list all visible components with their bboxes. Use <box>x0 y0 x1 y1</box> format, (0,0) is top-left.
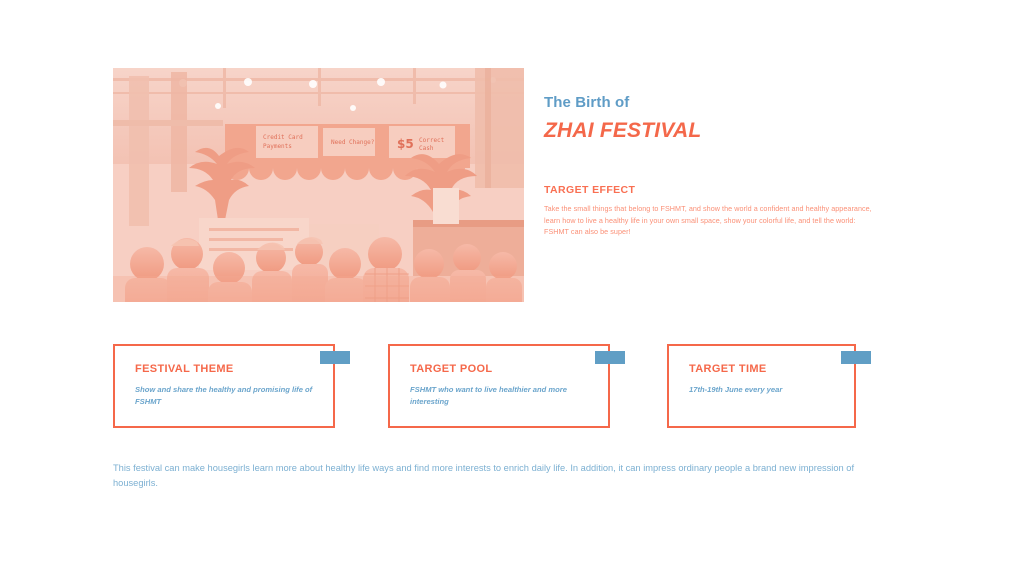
card-body: 17th-19th June every year <box>689 384 840 396</box>
footer-summary-text: This festival can make housegirls learn … <box>113 461 888 491</box>
svg-text:$5: $5 <box>397 137 414 151</box>
accent-tab-icon <box>595 351 625 364</box>
target-effect-body: Take the small things that belong to FSH… <box>544 203 876 238</box>
target-effect-section: TARGET EFFECT Take the small things that… <box>544 184 876 238</box>
hero-festival-photo: Credit Card Payments Need Change? Correc… <box>113 68 524 302</box>
svg-text:Payments: Payments <box>263 143 292 150</box>
card-title: TARGET POOL <box>410 363 594 375</box>
hero-photo-illustration: Credit Card Payments Need Change? Correc… <box>113 68 524 302</box>
svg-text:Correct: Correct <box>419 137 445 144</box>
card-target-pool[interactable]: TARGET POOL FSHMT who want to live healt… <box>388 344 610 428</box>
card-body: Show and share the healthy and promising… <box>135 384 319 408</box>
svg-text:Cash: Cash <box>419 145 434 152</box>
card-title: FESTIVAL THEME <box>135 363 319 375</box>
card-content: TARGET TIME 17th-19th June every year <box>689 363 840 396</box>
page-title: ZHAI FESTIVAL <box>544 117 874 144</box>
card-festival-theme[interactable]: FESTIVAL THEME Show and share the health… <box>113 344 335 428</box>
card-title: TARGET TIME <box>689 363 840 375</box>
target-effect-heading: TARGET EFFECT <box>544 184 876 196</box>
svg-text:Credit Card: Credit Card <box>263 134 303 141</box>
card-content: TARGET POOL FSHMT who want to live healt… <box>410 363 594 408</box>
card-body: FSHMT who want to live healthier and mor… <box>410 384 594 408</box>
accent-tab-icon <box>320 351 350 364</box>
accent-tab-icon <box>841 351 871 364</box>
card-content: FESTIVAL THEME Show and share the health… <box>135 363 319 408</box>
headline-block: The Birth of ZHAI FESTIVAL <box>544 94 874 144</box>
card-target-time[interactable]: TARGET TIME 17th-19th June every year <box>667 344 856 428</box>
headline-kicker: The Birth of <box>544 94 874 113</box>
svg-text:Need Change?: Need Change? <box>331 139 375 146</box>
